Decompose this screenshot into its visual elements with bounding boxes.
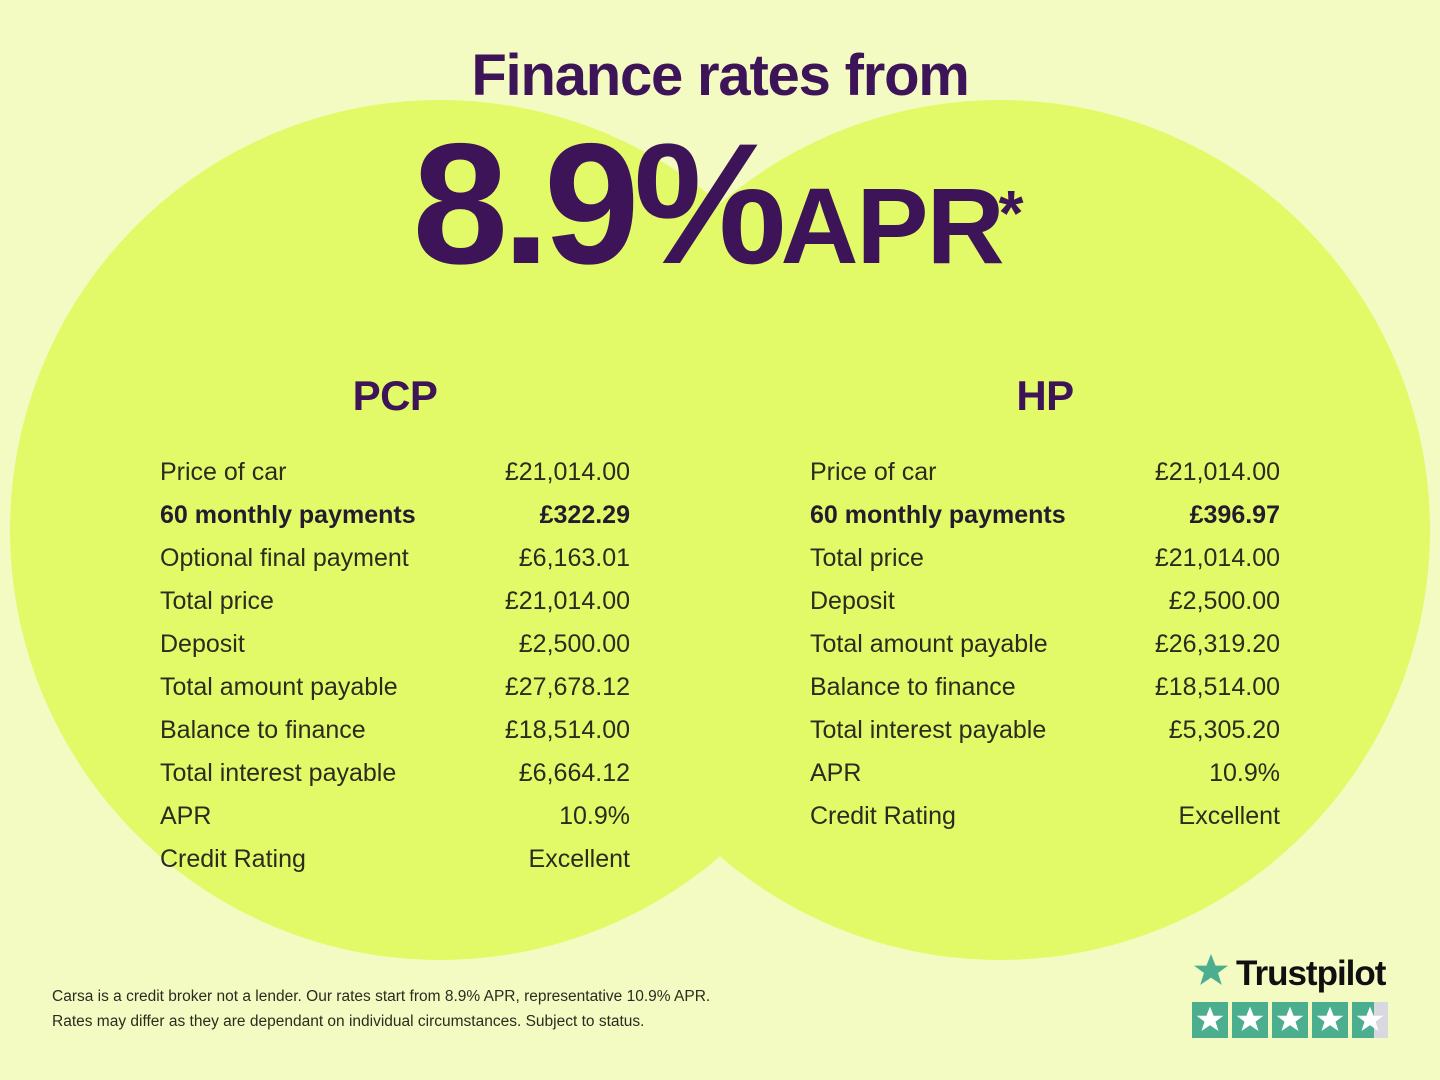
finance-row-value: £396.97 <box>1190 501 1280 530</box>
finance-row: Credit RatingExcellent <box>800 802 1290 845</box>
finance-row-value: £18,514.00 <box>1155 673 1280 702</box>
finance-row-value: £322.29 <box>540 501 630 530</box>
finance-row: Balance to finance£18,514.00 <box>150 716 640 759</box>
trustpilot-star-icon <box>1232 1002 1268 1038</box>
column-title-pcp: PCP <box>150 372 640 420</box>
finance-row: Price of car£21,014.00 <box>800 458 1290 501</box>
trustpilot-star-icon <box>1312 1002 1348 1038</box>
finance-row-value: £27,678.12 <box>505 673 630 702</box>
finance-row-value: £5,305.20 <box>1169 716 1280 745</box>
finance-row: Total amount payable£26,319.20 <box>800 630 1290 673</box>
finance-row: Total price£21,014.00 <box>150 587 640 630</box>
finance-row-value: Excellent <box>1179 802 1280 831</box>
page-title: Finance rates from <box>0 42 1440 109</box>
finance-row-value: 10.9% <box>1209 759 1280 788</box>
finance-row-value: £21,014.00 <box>505 458 630 487</box>
finance-row-value: Excellent <box>529 845 630 874</box>
trustpilot-star-icon <box>1272 1002 1308 1038</box>
finance-row-label: 60 monthly payments <box>160 501 416 530</box>
finance-row-label: 60 monthly payments <box>810 501 1066 530</box>
finance-table-hp: Price of car£21,014.0060 monthly payment… <box>800 458 1290 845</box>
finance-row-value: £21,014.00 <box>1155 458 1280 487</box>
finance-row-label: Price of car <box>810 458 936 487</box>
finance-row: Total amount payable£27,678.12 <box>150 673 640 716</box>
finance-row-label: Price of car <box>160 458 286 487</box>
finance-row-value: 10.9% <box>559 802 630 831</box>
finance-row-label: Total interest payable <box>810 716 1046 745</box>
finance-row: 60 monthly payments£396.97 <box>800 501 1290 544</box>
finance-row-label: Credit Rating <box>810 802 956 831</box>
finance-row-label: Credit Rating <box>160 845 306 874</box>
finance-row-value: £26,319.20 <box>1155 630 1280 659</box>
finance-row: 60 monthly payments£322.29 <box>150 501 640 544</box>
finance-column-hp: HP Price of car£21,014.0060 monthly paym… <box>800 372 1290 888</box>
finance-row-label: APR <box>810 759 861 788</box>
finance-row: APR10.9% <box>800 759 1290 802</box>
trustpilot-wordmark: Trustpilot <box>1236 956 1385 991</box>
finance-column-pcp: PCP Price of car£21,014.0060 monthly pay… <box>150 372 640 888</box>
headline-rate: 8.9%APR* <box>0 118 1440 290</box>
finance-row-label: Total amount payable <box>810 630 1048 659</box>
finance-row-label: Deposit <box>160 630 245 659</box>
trustpilot-star-icon <box>1192 1002 1228 1038</box>
rate-unit: APR <box>781 165 1003 286</box>
finance-row: Total price£21,014.00 <box>800 544 1290 587</box>
finance-row-label: Total interest payable <box>160 759 396 788</box>
rate-number: 8.9% <box>413 108 781 300</box>
column-title-hp: HP <box>800 372 1290 420</box>
finance-row-label: Balance to finance <box>160 716 366 745</box>
finance-row-value: £6,163.01 <box>519 544 630 573</box>
finance-row-label: Optional final payment <box>160 544 409 573</box>
finance-row: Price of car£21,014.00 <box>150 458 640 501</box>
finance-row: Optional final payment£6,163.01 <box>150 544 640 587</box>
disclaimer-text: Carsa is a credit broker not a lender. O… <box>52 984 710 1034</box>
finance-row-label: APR <box>160 802 211 831</box>
finance-row-value: £21,014.00 <box>1155 544 1280 573</box>
finance-row-label: Total price <box>810 544 924 573</box>
finance-table-pcp: Price of car£21,014.0060 monthly payment… <box>150 458 640 888</box>
finance-row-value: £2,500.00 <box>1169 587 1280 616</box>
finance-row: Balance to finance£18,514.00 <box>800 673 1290 716</box>
finance-row-value: £6,664.12 <box>519 759 630 788</box>
finance-row: Deposit£2,500.00 <box>150 630 640 673</box>
trustpilot-star-icon <box>1352 1002 1388 1038</box>
finance-row: Total interest payable£6,664.12 <box>150 759 640 802</box>
rate-footnote-asterisk: * <box>999 177 1024 249</box>
finance-row-value: £21,014.00 <box>505 587 630 616</box>
finance-row: Credit RatingExcellent <box>150 845 640 888</box>
trustpilot-logo: Trustpilot <box>1192 952 1392 995</box>
trustpilot-star-icon <box>1192 952 1230 995</box>
finance-row-label: Balance to finance <box>810 673 1016 702</box>
finance-row-label: Total price <box>160 587 274 616</box>
trustpilot-star-rating <box>1192 1002 1392 1038</box>
trustpilot-rating: Trustpilot <box>1192 952 1392 1038</box>
finance-row: Deposit£2,500.00 <box>800 587 1290 630</box>
finance-row-label: Deposit <box>810 587 895 616</box>
disclaimer-line-1: Carsa is a credit broker not a lender. O… <box>52 984 710 1009</box>
disclaimer-line-2: Rates may differ as they are dependant o… <box>52 1009 710 1034</box>
finance-row-value: £2,500.00 <box>519 630 630 659</box>
promo-graphic: Finance rates from 8.9%APR* PCP Price of… <box>0 0 1440 1080</box>
finance-row-label: Total amount payable <box>160 673 398 702</box>
finance-row: APR10.9% <box>150 802 640 845</box>
finance-comparison: PCP Price of car£21,014.0060 monthly pay… <box>0 372 1440 888</box>
finance-row-value: £18,514.00 <box>505 716 630 745</box>
finance-row: Total interest payable£5,305.20 <box>800 716 1290 759</box>
